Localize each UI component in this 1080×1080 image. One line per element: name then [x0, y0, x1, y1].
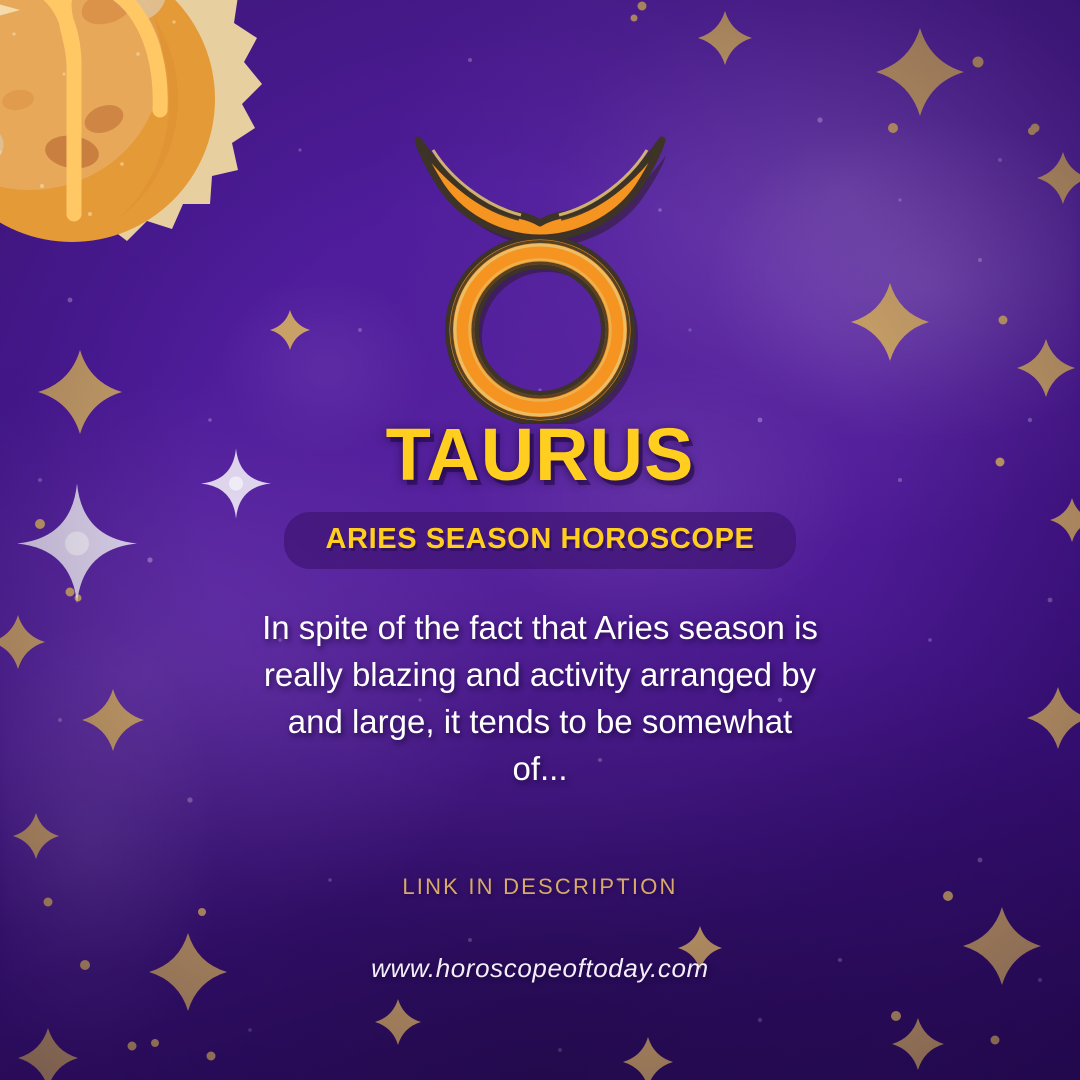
star-dot-icon: [151, 1039, 159, 1047]
link-in-description-label: LINK IN DESCRIPTION: [0, 874, 1080, 900]
sparkle-star-icon: [1037, 152, 1080, 204]
star-dot-icon: [638, 2, 647, 11]
sparkle-star-icon: [1017, 339, 1075, 397]
star-dot-icon: [631, 15, 638, 22]
sparkle-star-icon: [270, 310, 310, 350]
star-dot-icon: [128, 1042, 137, 1051]
website-url: www.horoscopeoftoday.com: [0, 953, 1080, 984]
subtitle-container: ARIES SEASON HOROSCOPE: [0, 512, 1080, 569]
horoscope-poster: TAURUS ARIES SEASON HOROSCOPE In spite o…: [0, 0, 1080, 1080]
sparkle-star-icon: [375, 999, 421, 1045]
sparkle-star-icon: [623, 1037, 673, 1080]
page-title: TAURUS: [0, 418, 1080, 492]
star-dot-icon: [973, 57, 984, 68]
star-dot-icon: [891, 1011, 901, 1021]
taurus-ring: [462, 252, 618, 408]
star-dot-icon: [888, 123, 898, 133]
subtitle-badge: ARIES SEASON HOROSCOPE: [284, 512, 797, 569]
taurus-symbol: [395, 134, 685, 424]
sparkle-star-icon: [851, 283, 929, 361]
content-block: TAURUS ARIES SEASON HOROSCOPE In spite o…: [0, 418, 1080, 984]
sparkle-star-icon: [892, 1018, 944, 1070]
star-dot-icon: [1028, 127, 1036, 135]
star-dot-icon: [207, 1052, 216, 1061]
sparkle-star-icon: [698, 11, 752, 65]
star-dot-icon: [991, 1036, 1000, 1045]
sparkle-star-icon: [18, 1028, 78, 1080]
taurus-horns: [418, 140, 662, 238]
sparkle-star-icon: [876, 28, 964, 116]
star-dot-icon: [999, 316, 1008, 325]
aries-sun-badge: [0, 0, 292, 314]
horoscope-body-text: In spite of the fact that Aries season i…: [260, 605, 820, 792]
